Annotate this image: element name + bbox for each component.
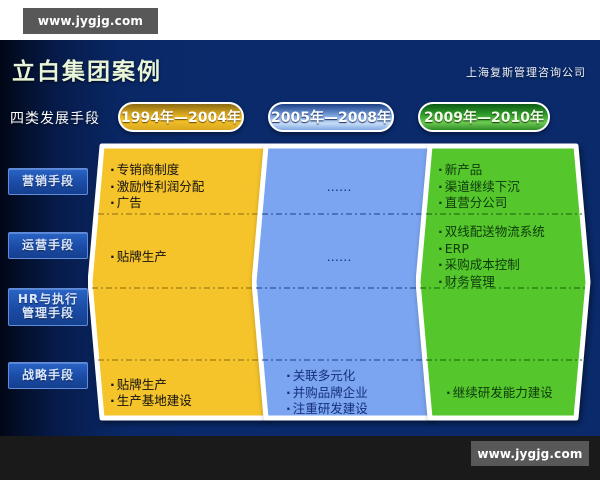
bullet: 关联多元化: [286, 368, 426, 385]
column-content-gold: 专销商制度 激励性利润分配 广告 贴牌生产 贴牌生产 生产基地建设: [88, 142, 270, 422]
period-pill-2005-2008[interactable]: 2005年—2008年: [268, 102, 394, 132]
cell-operations-gold: 贴牌生产: [88, 222, 270, 292]
bullet: 生产基地建设: [110, 393, 262, 410]
bullet: 采购成本控制: [438, 257, 584, 274]
phase-column-2009-2010[interactable]: 新产品 渠道继续下沉 直营分公司 双线配送物流系统 ERP 采购成本控制 财务管…: [416, 142, 592, 422]
column-content-blue: …… …… 关联多元化 并购品牌企业 注重研发建设: [252, 142, 434, 422]
slide-canvas: www.jygjg.com 立白集团案例 上海复斯管理咨询公司 四类发展手段 1…: [0, 0, 600, 480]
bullet: 广告: [110, 195, 262, 212]
phase-column-1994-2004[interactable]: 专销商制度 激励性利润分配 广告 贴牌生产 贴牌生产 生产基地建设: [88, 142, 270, 422]
bullet: 并购品牌企业: [286, 385, 426, 402]
slide-body: 立白集团案例 上海复斯管理咨询公司 四类发展手段 1994年—2004年 200…: [0, 40, 600, 436]
phase-column-2005-2008[interactable]: …… …… 关联多元化 并购品牌企业 注重研发建设: [252, 142, 434, 422]
bullet: ERP: [438, 241, 584, 258]
bullet: 渠道继续下沉: [438, 179, 584, 196]
company-name: 上海复斯管理咨询公司: [466, 64, 586, 80]
bullet: 直营分公司: [438, 195, 584, 212]
cell-hr-blue: [252, 294, 434, 364]
cell-operations-blue: ……: [252, 222, 434, 292]
bullet: 双线配送物流系统: [438, 224, 584, 241]
cell-marketing-gold: 专销商制度 激励性利润分配 广告: [88, 156, 270, 218]
cell-strategy-green: 继续研发能力建设: [416, 368, 592, 418]
row-label-text: 战略手段: [22, 369, 74, 383]
cell-marketing-green: 新产品 渠道继续下沉 直营分公司: [416, 156, 592, 218]
column-content-green: 新产品 渠道继续下沉 直营分公司 双线配送物流系统 ERP 采购成本控制 财务管…: [416, 142, 592, 422]
bullet: 新产品: [438, 162, 584, 179]
row-label-hr-execution: HR与执行 管理手段: [8, 288, 88, 326]
bullet: 财务管理: [438, 274, 584, 291]
period-pill-2009-2010[interactable]: 2009年—2010年: [418, 102, 550, 132]
cell-strategy-blue: 关联多元化 并购品牌企业 注重研发建设: [252, 368, 434, 418]
ellipsis-text: ……: [327, 179, 352, 196]
cell-hr-green: [416, 294, 592, 364]
row-label-line2: 管理手段: [22, 306, 74, 320]
bullet: 贴牌生产: [110, 377, 262, 394]
bullet: 继续研发能力建设: [446, 385, 584, 402]
cell-strategy-gold: 贴牌生产 生产基地建设: [88, 368, 270, 418]
bullet: 贴牌生产: [110, 249, 262, 266]
row-label-text: 营销手段: [22, 175, 74, 189]
row-label-marketing: 营销手段: [8, 168, 88, 195]
watermark-bottom: www.jygjg.com: [471, 441, 589, 466]
subtitle-label: 四类发展手段: [10, 108, 100, 128]
row-label-text: HR与执行 管理手段: [18, 293, 78, 321]
period-pill-1994-2004[interactable]: 1994年—2004年: [118, 102, 244, 132]
page-title: 立白集团案例: [12, 52, 162, 86]
watermark-top: www.jygjg.com: [23, 8, 158, 34]
ellipsis-text: ……: [327, 249, 352, 266]
bullet: 激励性利润分配: [110, 179, 262, 196]
bullet: 专销商制度: [110, 162, 262, 179]
row-label-operations: 运营手段: [8, 232, 88, 259]
row-label-strategy: 战略手段: [8, 362, 88, 389]
row-label-text: 运营手段: [22, 239, 74, 253]
cell-marketing-blue: ……: [252, 156, 434, 218]
cell-hr-gold: [88, 294, 270, 364]
bullet: 注重研发建设: [286, 401, 426, 418]
cell-operations-green: 双线配送物流系统 ERP 采购成本控制 财务管理: [416, 222, 592, 292]
row-label-line1: HR与执行: [18, 292, 78, 306]
